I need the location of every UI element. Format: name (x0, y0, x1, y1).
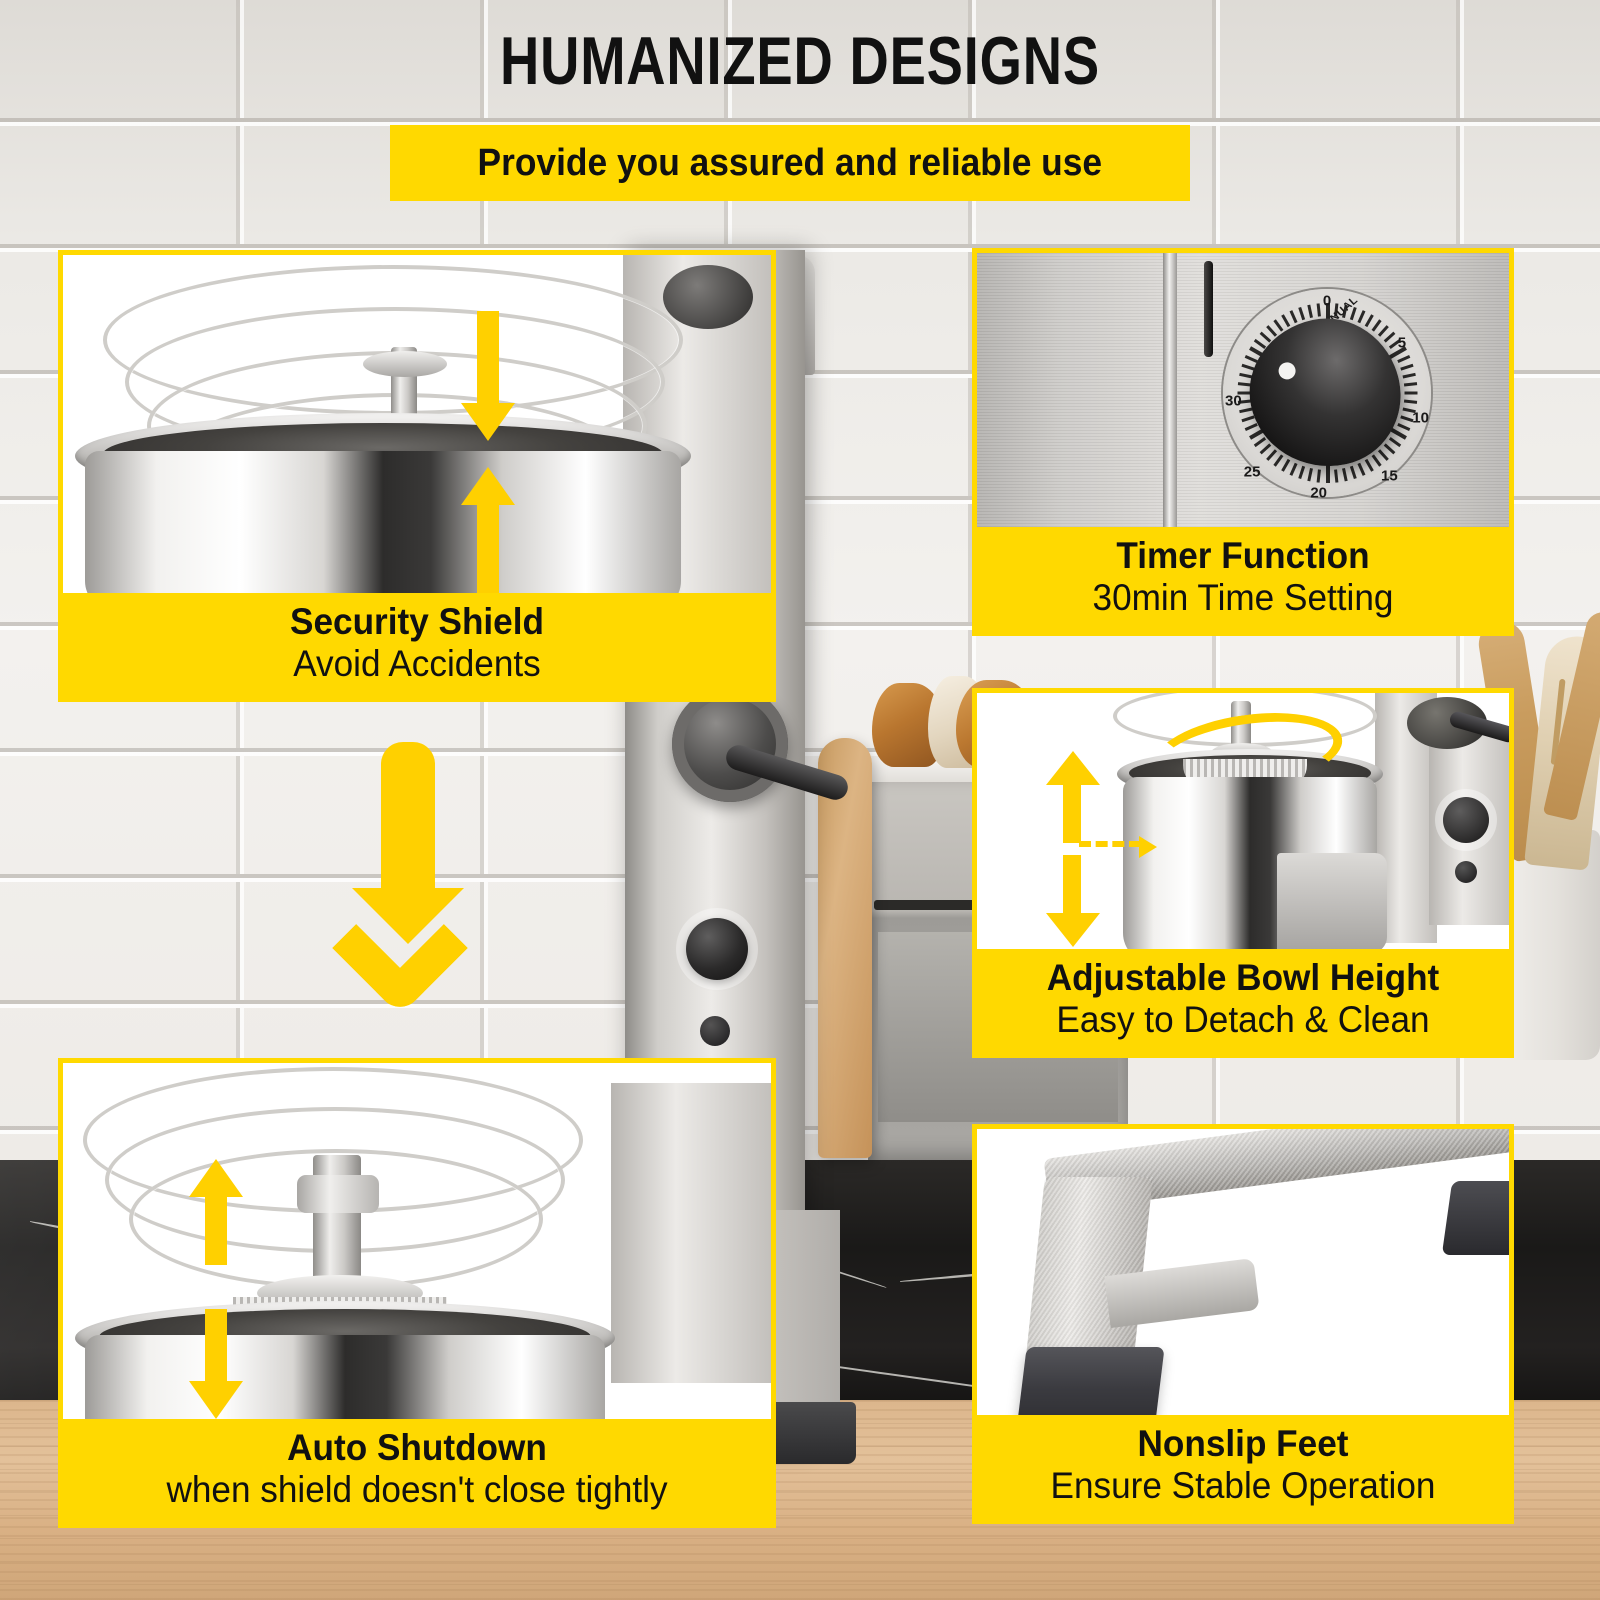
subtitle-text: Provide you assured and reliable use (478, 142, 1103, 185)
stainless-bowl (85, 1335, 605, 1419)
dial-number: 20 (1310, 484, 1327, 501)
arrow-down-icon (461, 311, 515, 441)
security-shield-photo (63, 255, 771, 593)
arrow-up-icon (189, 1159, 243, 1265)
cutting-board (818, 738, 872, 1158)
card-subtitle: when shield doesn't close tightly (86, 1469, 747, 1511)
card-title: Security Shield (86, 601, 747, 642)
card-title: Auto Shutdown (86, 1427, 747, 1468)
arrow-up-icon (1051, 751, 1095, 843)
machine-base-leg (1025, 1177, 1153, 1365)
panel-seam (1163, 253, 1177, 527)
timer-dial-photo: POS MANUAL 0 5 10 15 20 25 30 (977, 253, 1509, 527)
card-subtitle: 30min Time Setting (996, 577, 1490, 619)
dial-number: 10 (1412, 409, 1429, 426)
mixer-timer-knob[interactable] (1443, 797, 1489, 843)
card-subtitle: Ensure Stable Operation (996, 1465, 1490, 1507)
card-title: Nonslip Feet (996, 1423, 1490, 1464)
auto-shutdown-caption: Auto Shutdown when shield doesn't close … (63, 1419, 771, 1523)
mixer-timer-knob (686, 918, 748, 980)
panel-rod (1204, 261, 1213, 357)
shaft-coupling (297, 1175, 379, 1213)
adjustable-bowl-caption: Adjustable Bowl Height Easy to Detach & … (977, 949, 1509, 1053)
feature-card-timer-function[interactable]: POS MANUAL 0 5 10 15 20 25 30 Timer Func… (972, 248, 1514, 636)
dial-number: 15 (1381, 468, 1398, 485)
dashed-arrow-icon (1079, 841, 1141, 847)
arrow-down-icon (189, 1309, 243, 1419)
card-subtitle: Easy to Detach & Clean (996, 999, 1490, 1041)
card-subtitle: Avoid Accidents (86, 643, 747, 685)
mixer-wheel (663, 265, 753, 329)
dial-number: 0 (1323, 293, 1331, 310)
timer-dial[interactable]: POS MANUAL 0 5 10 15 20 25 30 (1223, 289, 1431, 497)
feature-card-nonslip-feet[interactable]: Nonslip Feet Ensure Stable Operation (972, 1124, 1514, 1524)
dial-number: 25 (1244, 464, 1261, 481)
adjustable-bowl-photo (977, 693, 1509, 949)
rubber-foot-cap (1015, 1347, 1164, 1415)
subtitle-banner: Provide you assured and reliable use (390, 125, 1190, 201)
dial-number: 5 (1398, 335, 1406, 352)
arrow-down-icon (1051, 855, 1095, 949)
feature-card-adjustable-bowl-height[interactable]: Adjustable Bowl Height Easy to Detach & … (972, 688, 1514, 1058)
mixer-housing (611, 1083, 771, 1383)
nonslip-feet-caption: Nonslip Feet Ensure Stable Operation (977, 1415, 1509, 1519)
bowl-bracket (1277, 853, 1387, 949)
feature-card-auto-shutdown[interactable]: Auto Shutdown when shield doesn't close … (58, 1058, 776, 1528)
arrow-up-icon (461, 467, 515, 593)
mixer-power-button (700, 1016, 730, 1046)
mixer-handwheel (672, 686, 788, 802)
shaft-collar (363, 351, 447, 377)
card-title: Adjustable Bowl Height (996, 957, 1490, 998)
stainless-bowl (85, 451, 681, 593)
nonslip-feet-photo (977, 1129, 1509, 1415)
infographic-stage: HUMANIZED DESIGNS Provide you assured an… (0, 0, 1600, 1600)
rubber-foot-cap (1442, 1181, 1509, 1255)
timer-function-caption: Timer Function 30min Time Setting (977, 527, 1509, 631)
page-title: HUMANIZED DESIGNS (160, 22, 1440, 100)
card-title: Timer Function (996, 535, 1490, 576)
mixer-power-button[interactable] (1455, 861, 1477, 883)
auto-shutdown-photo (63, 1063, 771, 1419)
dial-number: 30 (1225, 393, 1242, 410)
feature-card-security-shield[interactable]: Security Shield Avoid Accidents (58, 250, 776, 702)
security-shield-caption: Security Shield Avoid Accidents (63, 593, 771, 697)
